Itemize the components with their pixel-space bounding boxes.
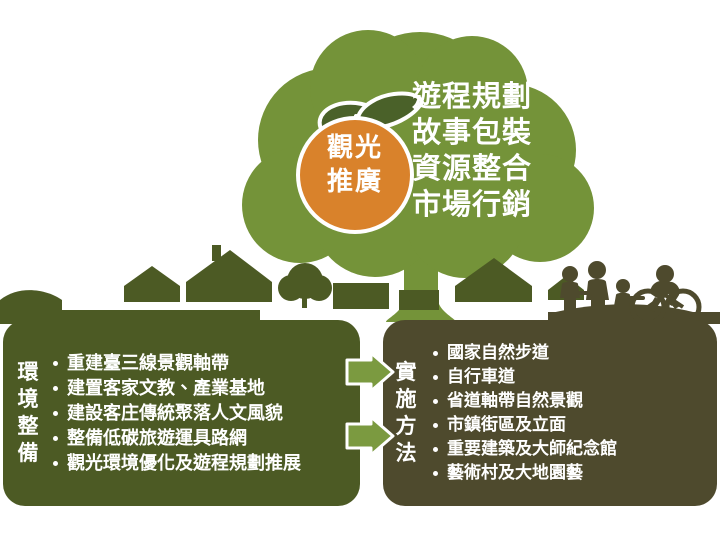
panel-left-list: 重建臺三線景觀軸帶 建置客家文教、產業基地 建設客庄傳統聚落人文風貌 整備低碳旅… [51,351,360,476]
list-item: 重要建築及大師紀念館 [431,437,717,461]
list-item: 觀光環境優化及遊程規劃推展 [51,451,360,476]
badge-label-line2: 推廣 [312,165,398,199]
panel-left-label-char: 境 [13,386,43,413]
panel-methods: 實 施 方 法 國家自然步道 自行車道 省道軸帶自然景觀 市鎮街區及立面 重要建… [383,320,717,506]
arrow-right-icon [347,353,393,391]
list-item: 市鎮街區及立面 [431,413,717,437]
list-item: 建置客家文教、產業基地 [51,376,360,401]
arrow-right-icon [347,417,393,455]
crown-keyword: 資源整合 [412,150,572,186]
arrow-group [343,352,397,464]
crown-keyword-list: 遊程規劃 故事包裝 資源整合 市場行銷 [412,78,572,222]
list-item: 建設客庄傳統聚落人文風貌 [51,401,360,426]
crown-keyword: 市場行銷 [412,186,572,222]
panel-right-list: 國家自然步道 自行車道 省道軸帶自然景觀 市鎮街區及立面 重要建築及大師紀念館 … [431,341,717,485]
badge-label-line1: 觀光 [312,131,398,165]
list-item: 藝術村及大地園藝 [431,461,717,485]
panel-left-label-char: 整 [13,413,43,440]
panel-left-label: 環 境 整 備 [13,359,43,467]
list-item: 國家自然步道 [431,341,717,365]
infographic-canvas: 遊程規劃 故事包裝 資源整合 市場行銷 觀光 推廣 環 境 整 備 重建臺三線景… [0,0,720,540]
list-item: 省道軸帶自然景觀 [431,389,717,413]
list-item: 重建臺三線景觀軸帶 [51,351,360,376]
panel-environment: 環 境 整 備 重建臺三線景觀軸帶 建置客家文教、產業基地 建設客庄傳統聚落人文… [3,320,360,506]
list-item: 整備低碳旅遊運具路網 [51,426,360,451]
panel-left-label-char: 環 [13,359,43,386]
crown-keyword: 遊程規劃 [412,78,572,114]
crown-keyword: 故事包裝 [412,114,572,150]
panel-left-label-char: 備 [13,440,43,467]
list-item: 自行車道 [431,365,717,389]
badge-label: 觀光 推廣 [312,131,398,199]
